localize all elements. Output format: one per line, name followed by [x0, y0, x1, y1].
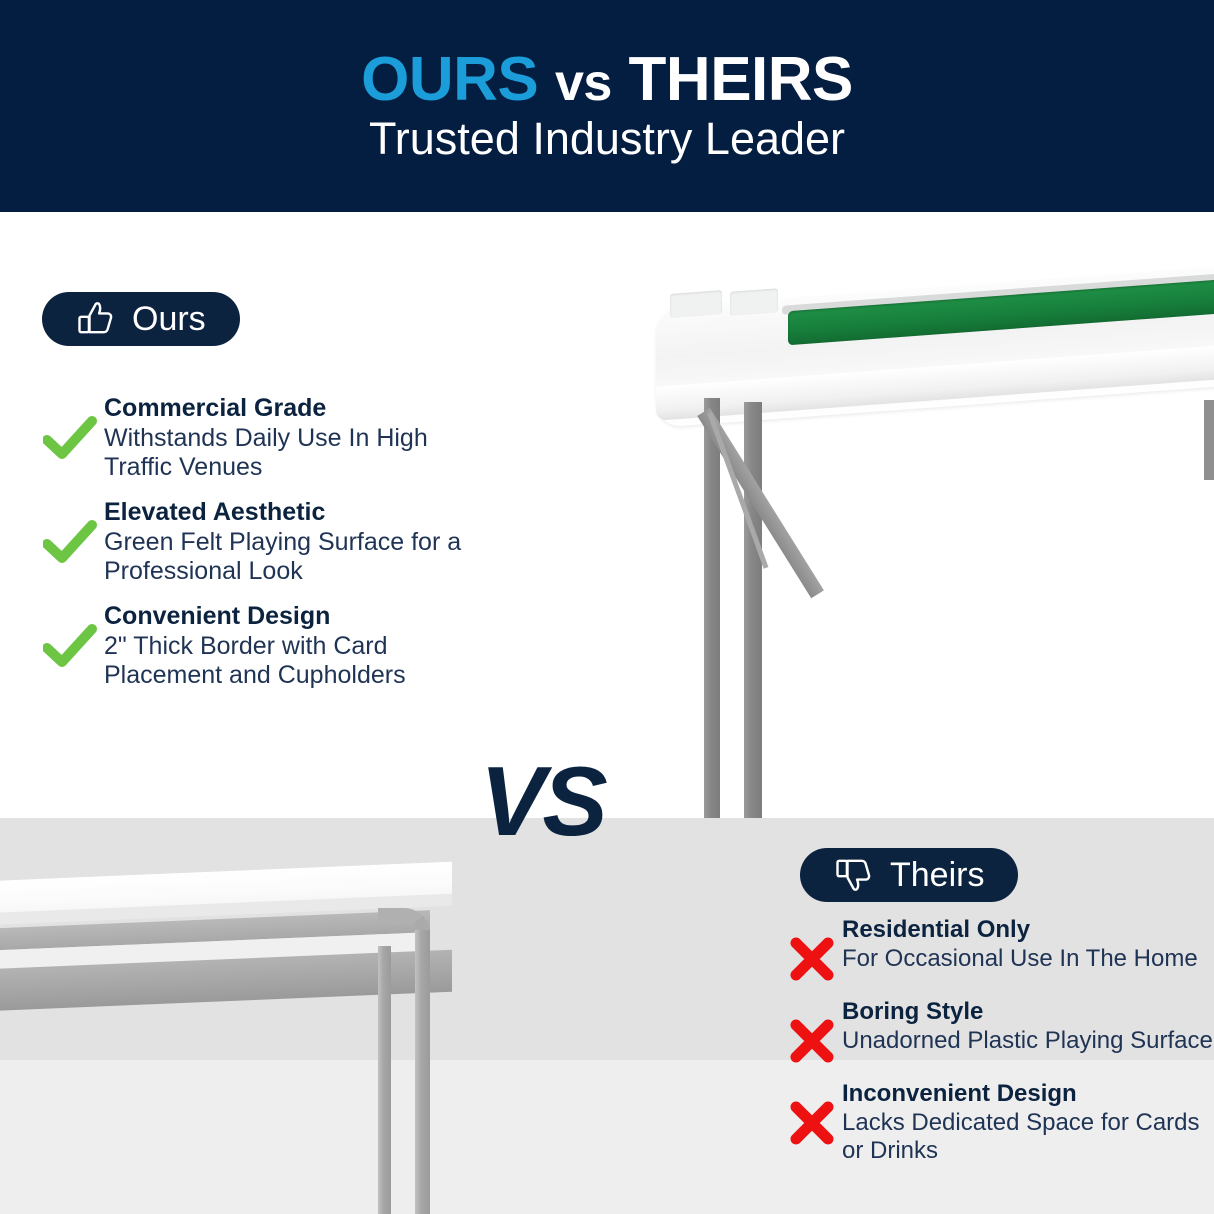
- feature-title: Boring Style: [842, 998, 1214, 1026]
- feature-description: For Occasional Use In The Home: [842, 945, 1214, 973]
- header-banner: OURS vs THEIRS Trusted Industry Leader: [0, 0, 1214, 212]
- ours-feature-list: Commercial Grade Withstands Daily Use In…: [36, 394, 476, 690]
- theirs-table-leg: [415, 930, 430, 1214]
- list-item-text: Inconvenient Design Lacks Dedicated Spac…: [842, 1080, 1214, 1164]
- theirs-product-image: [0, 846, 480, 1214]
- list-item-text: Boring Style Unadorned Plastic Playing S…: [842, 998, 1214, 1055]
- list-item: Elevated Aesthetic Green Felt Playing Su…: [36, 498, 476, 586]
- list-item: Commercial Grade Withstands Daily Use In…: [36, 394, 476, 482]
- x-icon: [782, 916, 842, 982]
- feature-description: 2" Thick Border with Card Placement and …: [104, 632, 476, 690]
- feature-title: Elevated Aesthetic: [104, 498, 476, 527]
- x-icon: [782, 998, 842, 1064]
- x-icon: [782, 1080, 842, 1146]
- list-item-text: Commercial Grade Withstands Daily Use In…: [104, 394, 476, 482]
- list-item: Convenient Design 2" Thick Border with C…: [36, 602, 476, 690]
- comparison-infographic: OURS vs THEIRS Trusted Industry Leader V…: [0, 0, 1214, 1214]
- theirs-badge: Theirs: [800, 848, 1018, 902]
- ours-product-image: [648, 222, 1214, 818]
- feature-title: Commercial Grade: [104, 394, 476, 423]
- theirs-badge-label: Theirs: [890, 858, 984, 892]
- thumbs-up-icon: [76, 300, 116, 338]
- feature-description: Unadorned Plastic Playing Surface: [842, 1027, 1214, 1055]
- title-ours-word: OURS: [361, 45, 538, 114]
- check-icon: [36, 394, 104, 460]
- ours-table-leg-far: [1204, 400, 1214, 480]
- title-vs-word: vs: [555, 54, 612, 112]
- title-theirs-word: THEIRS: [629, 45, 853, 114]
- card-placement-slot: [730, 288, 778, 316]
- feature-description: Green Felt Playing Surface for a Profess…: [104, 528, 476, 586]
- vs-divider-label: VS: [480, 752, 605, 850]
- ours-table-leg: [744, 402, 762, 818]
- list-item: Residential Only For Occasional Use In T…: [782, 916, 1214, 982]
- feature-title: Inconvenient Design: [842, 1080, 1214, 1108]
- ours-badge: Ours: [42, 292, 240, 346]
- ours-badge-label: Ours: [132, 302, 206, 336]
- page-subtitle: Trusted Industry Leader: [369, 115, 845, 162]
- card-placement-slot: [670, 290, 722, 318]
- list-item: Boring Style Unadorned Plastic Playing S…: [782, 998, 1214, 1064]
- list-item-text: Residential Only For Occasional Use In T…: [842, 916, 1214, 973]
- theirs-table-leg: [378, 946, 391, 1214]
- ours-table-leg: [704, 398, 720, 818]
- feature-title: Residential Only: [842, 916, 1214, 944]
- list-item: Inconvenient Design Lacks Dedicated Spac…: [782, 1080, 1214, 1164]
- list-item-text: Convenient Design 2" Thick Border with C…: [104, 602, 476, 690]
- thumbs-down-icon: [834, 856, 874, 894]
- list-item-text: Elevated Aesthetic Green Felt Playing Su…: [104, 498, 476, 586]
- feature-description: Withstands Daily Use In High Traffic Ven…: [104, 424, 476, 482]
- check-icon: [36, 498, 104, 564]
- page-title: OURS vs THEIRS: [361, 49, 853, 111]
- theirs-feature-list: Residential Only For Occasional Use In T…: [782, 916, 1214, 1164]
- check-icon: [36, 602, 104, 668]
- feature-title: Convenient Design: [104, 602, 476, 631]
- feature-description: Lacks Dedicated Space for Cards or Drink…: [842, 1109, 1214, 1165]
